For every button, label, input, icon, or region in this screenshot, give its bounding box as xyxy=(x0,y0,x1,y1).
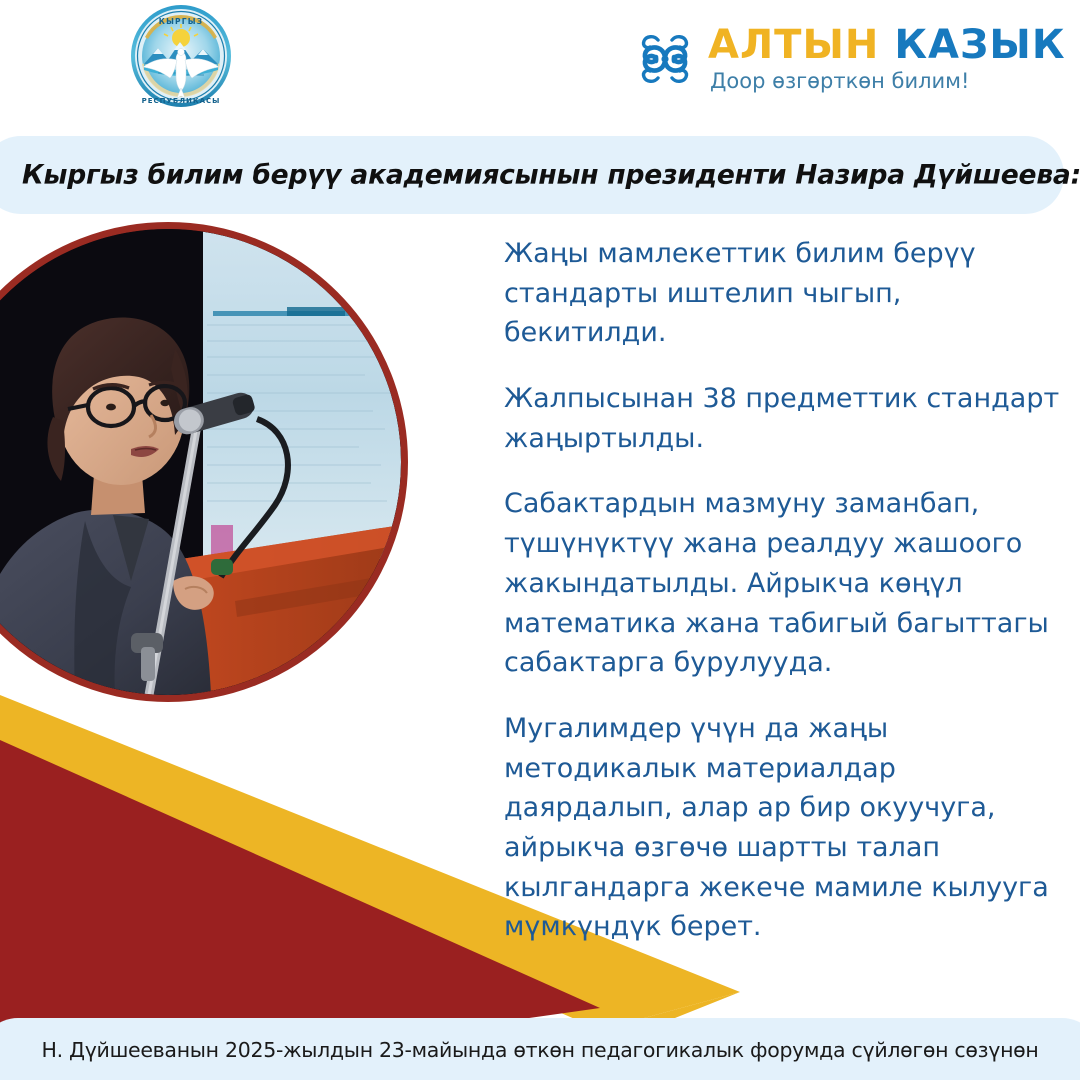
brand-wordmark: АЛТЫН КАЗЫК xyxy=(708,22,1066,68)
quote-body: Жаңы мамлекеттик билим берүү стандарты и… xyxy=(504,234,1070,947)
poster-root: КЫРГЫЗ РЕСПУБЛИКАСЫ xyxy=(0,0,1080,1080)
footer-banner: Н. Дүйшееванын 2025-жылдын 23-майында өт… xyxy=(0,1018,1080,1080)
altyn-kazyk-ornament-icon xyxy=(632,26,698,92)
kyrgyz-coat-of-arms-icon: КЫРГЫЗ РЕСПУБЛИКАСЫ xyxy=(128,4,234,108)
emblem-top-text: КЫРГЫЗ xyxy=(159,17,203,26)
brand-logo: АЛТЫН КАЗЫК Доор өзгөрткөн билим! xyxy=(632,20,982,102)
brand-word-1: АЛТЫН xyxy=(708,22,879,68)
quote-paragraph-2: Жалпысынан 38 предметтик стандарт жаңырт… xyxy=(504,379,1070,458)
portrait-photo xyxy=(0,229,401,695)
title-banner: Кыргыз билим берүү академиясынын президе… xyxy=(0,136,1064,214)
emblem-bottom-text: РЕСПУБЛИКАСЫ xyxy=(142,97,221,105)
quote-paragraph-3: Сабактардын мазмуну заманбап, түшүнүктүү… xyxy=(504,484,1070,682)
source-attribution: Н. Дүйшееванын 2025-жылдын 23-майында өт… xyxy=(0,1038,1080,1062)
quote-paragraph-4: Мугалимдер үчүн да жаңы методикалык мате… xyxy=(504,709,1070,947)
brand-word-2: КАЗЫК xyxy=(894,22,1065,68)
header-bar: КЫРГЫЗ РЕСПУБЛИКАСЫ xyxy=(0,0,1080,128)
page-title: Кыргыз билим берүү академиясынын президе… xyxy=(22,160,1080,191)
brand-tagline: Доор өзгөрткөн билим! xyxy=(710,69,969,93)
speaker-portrait xyxy=(0,222,408,702)
quote-paragraph-1: Жаңы мамлекеттик билим берүү стандарты и… xyxy=(504,234,1070,353)
